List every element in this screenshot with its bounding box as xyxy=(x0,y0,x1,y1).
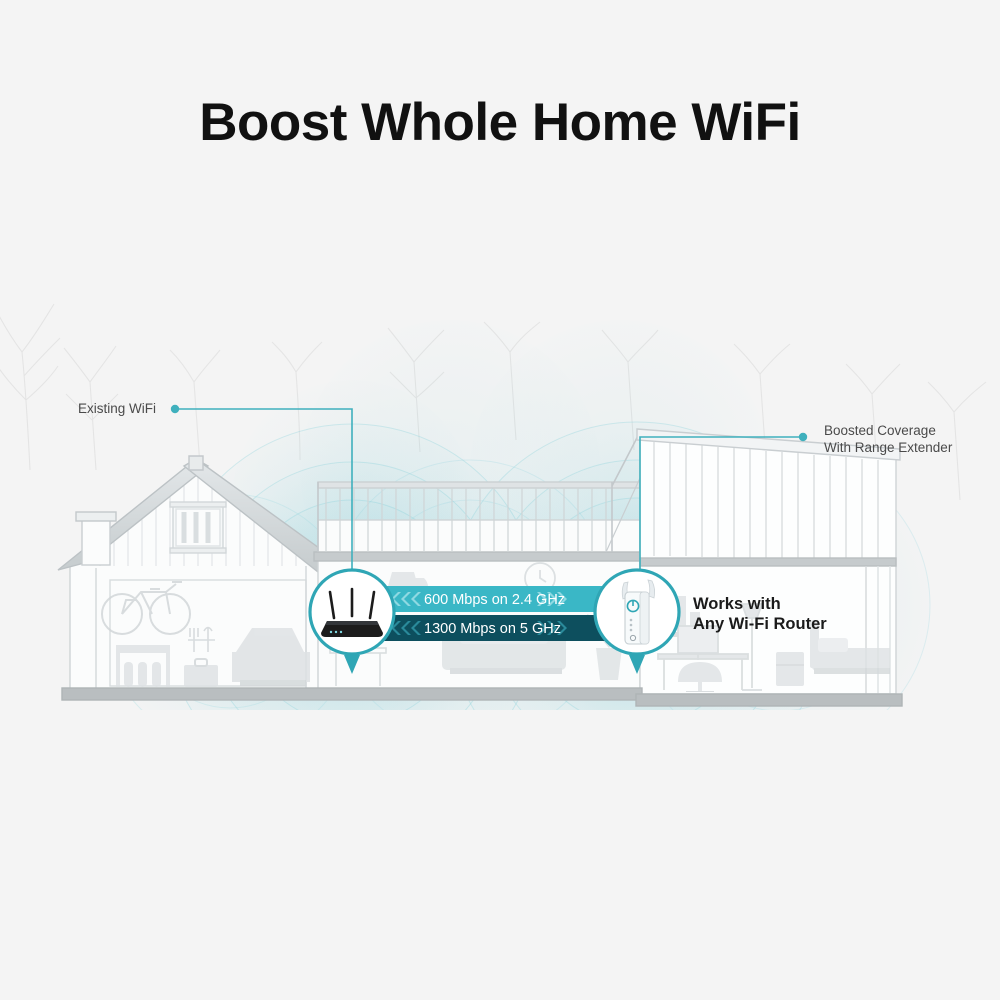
speed-label-2-4ghz: 600 Mbps on 2.4 GHz xyxy=(424,592,565,608)
tagline-line1: Works with xyxy=(693,594,827,614)
callout-existing-wifi: Existing WiFi xyxy=(78,401,156,418)
tagline-line2: Any Wi-Fi Router xyxy=(693,614,827,634)
speed-label-5ghz: 1300 Mbps on 5 GHz xyxy=(424,621,561,637)
callout-existing-wifi-line1: Existing WiFi xyxy=(78,401,156,418)
floor-left xyxy=(62,688,642,700)
nightstand-icon xyxy=(776,652,804,686)
callout-dot-right xyxy=(799,433,807,441)
tagline-works-with-any-router: Works with Any Wi-Fi Router xyxy=(693,594,827,634)
callout-boosted-coverage: Boosted Coverage With Range Extender xyxy=(824,423,952,456)
page-title: Boost Whole Home WiFi xyxy=(0,92,1000,153)
callout-boosted-coverage-line1: Boosted Coverage xyxy=(824,423,952,440)
callout-boosted-coverage-line2: With Range Extender xyxy=(824,440,952,457)
callout-dot-left xyxy=(171,405,179,413)
infographic-canvas: Boost Whole Home WiFi Existing WiFi Boos… xyxy=(0,0,1000,1000)
floor-right xyxy=(636,694,902,706)
